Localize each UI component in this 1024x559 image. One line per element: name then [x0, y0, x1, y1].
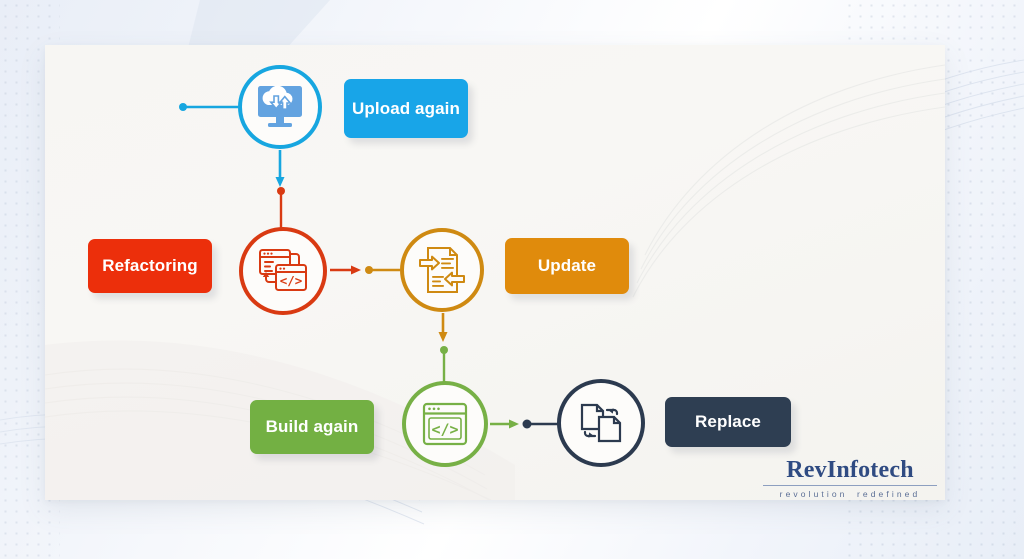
label-build-again[interactable]: Build again [250, 400, 374, 454]
brand-logo: RevInfotech revolution redefined [757, 458, 943, 499]
brand-name: RevInfotech [757, 458, 943, 483]
node-build[interactable]: </> [402, 381, 488, 467]
node-refactoring[interactable]: </> [239, 227, 327, 315]
start-dot [179, 103, 187, 111]
label-replace[interactable]: Replace [665, 397, 791, 447]
node-replace[interactable] [557, 379, 645, 467]
logo-divider [763, 485, 937, 486]
node-update[interactable] [400, 228, 484, 312]
workflow-diagram: Upload again [0, 0, 1024, 559]
label-upload-again[interactable]: Upload again [344, 79, 468, 138]
label-refactoring-text: Refactoring [102, 256, 198, 276]
label-update-text: Update [538, 256, 596, 276]
svg-text:</>: </> [431, 421, 458, 439]
page-background: Upload again [0, 0, 1024, 559]
document-sync-arrows-icon [416, 243, 468, 297]
browser-code-tags-icon: </> [419, 400, 471, 448]
label-refactoring[interactable]: Refactoring [88, 239, 212, 293]
label-replace-text: Replace [695, 412, 761, 432]
svg-text:</>: </> [280, 273, 303, 288]
label-update[interactable]: Update [505, 238, 629, 294]
label-build-again-text: Build again [266, 417, 359, 437]
documents-swap-arrows-icon [574, 397, 628, 449]
brand-tagline: revolution redefined [757, 489, 943, 499]
node-upload[interactable] [238, 65, 322, 149]
code-windows-refactor-icon: </> [255, 244, 311, 298]
cloud-upload-download-monitor-icon [254, 83, 306, 131]
label-upload-again-text: Upload again [352, 99, 460, 119]
